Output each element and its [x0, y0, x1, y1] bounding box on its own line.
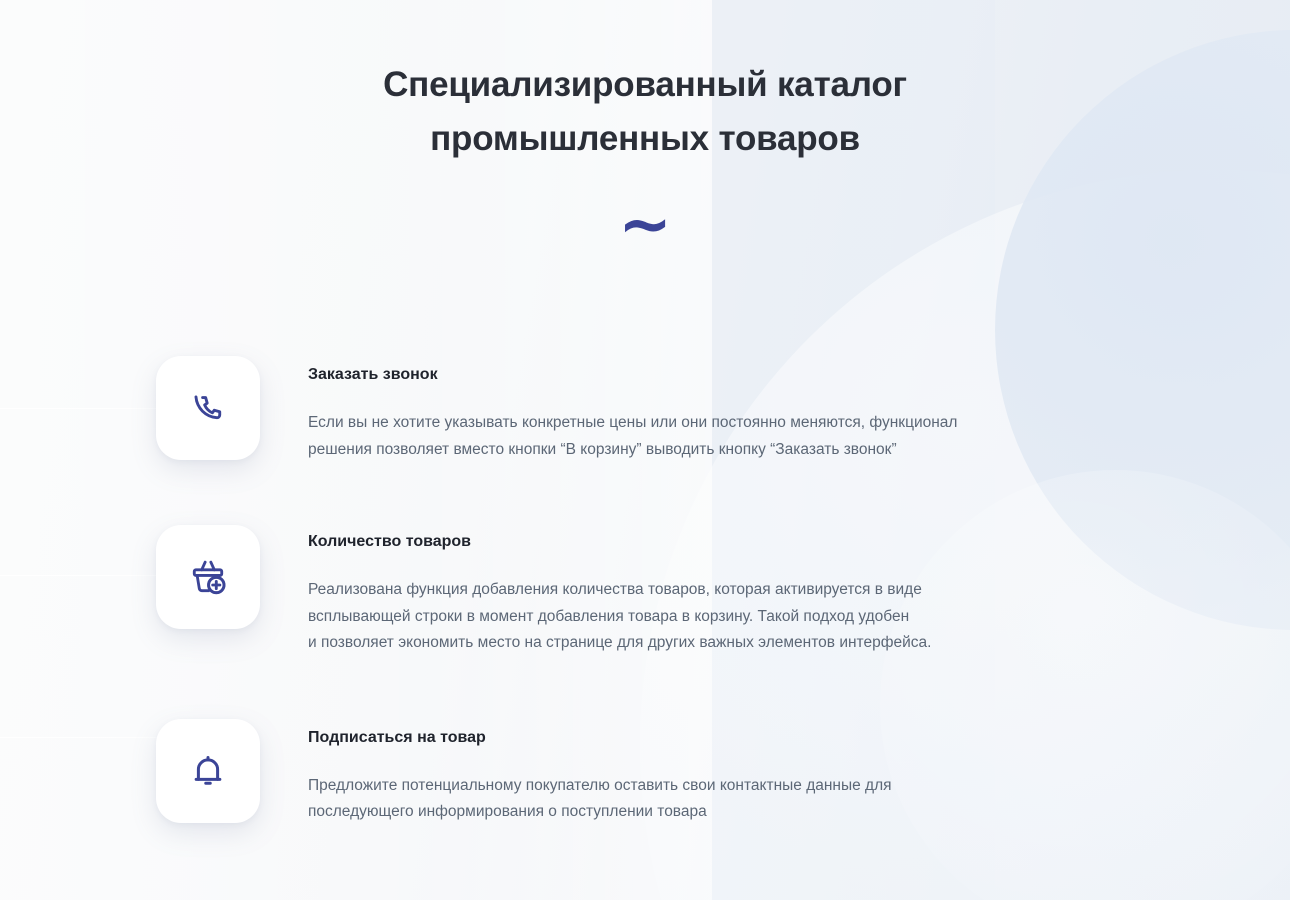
feature-item-subscribe: Подписаться на товар Предложите потенциа…: [156, 719, 1156, 826]
bell-icon: [190, 753, 226, 789]
feature-body: Подписаться на товар Предложите потенциа…: [308, 719, 892, 826]
hero-section: Специализированный каталог промышленных …: [0, 58, 1290, 166]
tilde-divider-wrap: ~: [0, 205, 1290, 265]
feature-description: Предложите потенциальному покупателю ост…: [308, 773, 892, 826]
basket-add-icon: [188, 557, 228, 597]
feature-description: Реализована функция добавления количеств…: [308, 577, 931, 657]
page-title: Специализированный каталог промышленных …: [295, 58, 995, 166]
feature-body: Количество товаров Реализована функция д…: [308, 525, 931, 657]
feature-title: Подписаться на товар: [308, 727, 892, 749]
feature-icon-card[interactable]: [156, 356, 260, 460]
feature-title: Количество товаров: [308, 531, 931, 553]
feature-title: Заказать звонок: [308, 364, 957, 386]
feature-body: Заказать звонок Если вы не хотите указыв…: [308, 356, 957, 463]
feature-list: Заказать звонок Если вы не хотите указыв…: [156, 356, 1156, 826]
feature-item-quantity: Количество товаров Реализована функция д…: [156, 525, 1156, 657]
tilde-divider-icon: ~: [618, 201, 672, 249]
feature-description: Если вы не хотите указывать конкретные ц…: [308, 410, 957, 463]
phone-icon: [190, 390, 226, 426]
feature-icon-card[interactable]: [156, 719, 260, 823]
page-root: Специализированный каталог промышленных …: [0, 0, 1290, 900]
feature-item-call-request: Заказать звонок Если вы не хотите указыв…: [156, 356, 1156, 463]
feature-icon-card[interactable]: [156, 525, 260, 629]
